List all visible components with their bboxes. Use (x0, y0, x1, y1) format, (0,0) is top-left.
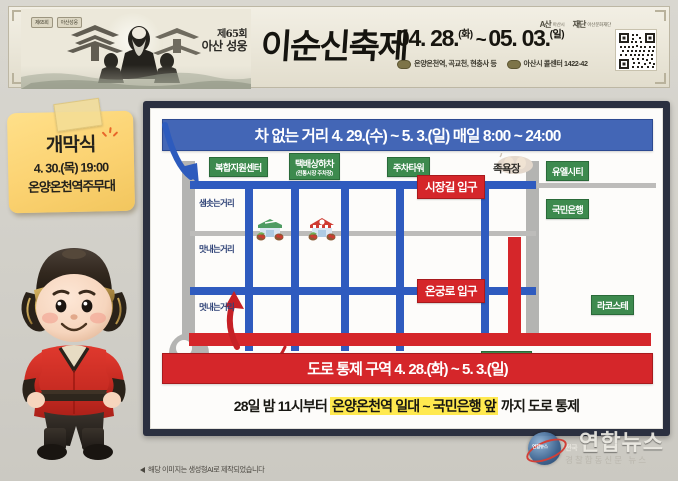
caption-suffix: 까지 도로 통제 (498, 398, 579, 414)
callcenter-item: 아산시 콜센터 1422-42 (507, 59, 588, 69)
watermark-top: 전국 연합뉴스 (565, 432, 664, 454)
end-dow: (일) (550, 29, 564, 40)
map-label-국민은행: 국민은행 (546, 199, 589, 219)
ai-disclaimer: 해당 이미지는 생성형AI로 제작되었습니다 (140, 465, 264, 475)
watermark-sub: 경찰합동신문 뉴스 (565, 456, 664, 465)
yi-sun-sin-mascot (4, 214, 144, 462)
sponsor-name: 아산시 (553, 22, 565, 28)
label-name: 시장길 입구 (425, 179, 477, 195)
caption-prefix: 28일 밤 11시부터 (234, 398, 330, 414)
label-name: 국민은행 (552, 202, 583, 216)
road-control-caption: 28일 밤 11시부터 온양온천역 일대 ~ 국민은행 앞 까지 도로 통제 (162, 392, 651, 420)
sponsor-mark-icon: 재단 (573, 19, 586, 30)
label-name: 택배상하차 (295, 156, 334, 170)
label-name: 맛내는거리 (199, 243, 234, 255)
road-blue-vertical-3 (341, 181, 349, 351)
banner-mini-badges: 제65회 아산성웅 (31, 17, 82, 28)
caption-text: 28일 밤 11시부터 온양온천역 일대 ~ 국민은행 앞 까지 도로 통제 (234, 396, 579, 416)
label-name: 온궁로 입구 (425, 283, 477, 299)
map-label-멋내는거리: 멋내는거리 (199, 301, 234, 313)
opening-ceremony-note: 개막식 4. 30.(목) 19:00 온양온천역주무대 (7, 111, 135, 214)
festival-banner: 제65회 아산성웅 제65회 아산 성웅 이순신축제 04. 28.(화)~05… (8, 6, 670, 88)
festival-info-line: 온양온천역, 곡교천, 현충사 등 아산시 콜센터 1422-42 (397, 59, 622, 69)
festival-main-title: 이순신축제 (259, 19, 409, 68)
venue-text: 온양온천역, 곡교천, 현충사 등 (414, 59, 497, 69)
festival-title-block: 제65회 아산 성웅 이순신축제 (159, 21, 399, 81)
sponsor-logo-foundation: 재단 아산문화재단 (573, 19, 611, 30)
road-grey-stub-right (537, 183, 656, 188)
end-month: 05. (488, 25, 516, 51)
caption-highlight: 온양온천역 일대 ~ 국민은행 앞 (330, 397, 498, 415)
map-label-샘솟는거리: 샘솟는거리 (199, 197, 234, 209)
map-label-시장길입구: 시장길 입구 (417, 175, 485, 199)
festival-subtitle: 아산 성웅 (202, 40, 247, 53)
road-control-banner: 도로 통제 구역 4. 28.(화) ~ 5. 3.(일) (162, 353, 653, 384)
road-control-map-panel: 차 없는 거리 4. 29.(수) ~ 5. 3.(일) 매일 8:00 ~ 2… (143, 101, 670, 436)
venue-item: 온양온천역, 곡교천, 현충사 등 (397, 59, 497, 69)
market-stall-icon (307, 215, 335, 239)
mini-badge: 제65회 (31, 17, 53, 28)
disclaimer-text: 해당 이미지는 생성형AI로 제작되었습니다 (148, 465, 264, 475)
mini-badge: 아산성웅 (57, 17, 82, 28)
callcenter-text: 아산시 콜센터 1422-42 (524, 59, 588, 69)
map-label-온궁로입구: 온궁로 입구 (417, 279, 485, 303)
qr-code-icon[interactable] (615, 29, 657, 71)
start-month: 04. (397, 25, 425, 51)
label-name: 샘솟는거리 (199, 197, 234, 209)
road-blue-vertical-5 (481, 181, 489, 333)
map-label-라코스테: 라코스테 (591, 295, 634, 315)
label-name: 복합지원센터 (215, 160, 262, 174)
sponsor-logo-asan: A산 아산시 (540, 19, 565, 30)
car-free-street-banner: 차 없는 거리 4. 29.(수) ~ 5. 3.(일) 매일 8:00 ~ 2… (162, 119, 653, 151)
sponsor-mark-icon: A산 (540, 19, 551, 30)
globe-icon: 연합뉴스 (528, 432, 561, 465)
map-label-복합지원센터: 복합지원센터 (209, 157, 268, 177)
road-red-horizontal (189, 333, 651, 346)
date-tilde: ~ (473, 30, 489, 51)
banner-corner (655, 10, 666, 21)
news-watermark: 연합뉴스 전국 연합뉴스 경찰합동신문 뉴스 (528, 432, 664, 465)
label-name: 라코스테 (597, 298, 628, 312)
road-blue-vertical-1 (245, 181, 253, 351)
sponsor-name: 아산문화재단 (587, 22, 611, 28)
watermark-prefix: 전국 (565, 446, 577, 455)
map-canvas: 차 없는 거리 4. 29.(수) ~ 5. 3.(일) 매일 8:00 ~ 2… (150, 108, 663, 429)
map-label-족욕장: 족욕장 (493, 161, 520, 176)
left-triangle-icon (140, 467, 145, 473)
label-name: 유엘시티 (552, 164, 583, 178)
label-name: 멋내는거리 (199, 301, 234, 313)
label-sub: (전통시장 주차장) (296, 169, 333, 177)
market-stall-icon (255, 215, 283, 239)
sponsor-logos: A산 아산시 재단 아산문화재단 (540, 19, 611, 30)
location-pill-icon (397, 60, 411, 69)
globe-ring-icon (523, 434, 570, 468)
start-dow: (화) (458, 29, 472, 40)
watermark-text: 전국 연합뉴스 경찰합동신문 뉴스 (565, 432, 664, 465)
label-name: 족욕장 (493, 161, 520, 176)
road-control-text: 도로 통제 구역 4. 28.(화) ~ 5. 3.(일) (307, 358, 508, 379)
festival-date-block: 04. 28.(화)~05. 03.(일) 온양온천역, 곡교천, 현충사 등 … (397, 27, 622, 69)
label-name: 주차타워 (393, 160, 424, 174)
tape-icon (53, 98, 103, 132)
start-day: 28. (430, 25, 458, 51)
map-label-맛내는거리: 맛내는거리 (199, 243, 234, 255)
road-red-vertical (508, 237, 521, 345)
opening-ceremony-heading: 개막식 (7, 129, 134, 159)
map-label-유엘시티: 유엘시티 (546, 161, 589, 181)
map-label-주차타워: 주차타워 (387, 157, 430, 177)
road-blue-vertical-2 (291, 181, 299, 351)
watermark-main: 연합뉴스 (579, 432, 664, 454)
map-label-택배상하차: 택배상하차 (전통시장 주차장) (289, 153, 340, 180)
opening-ceremony-venue: 온양온천역주무대 (8, 175, 134, 197)
car-free-street-text: 차 없는 거리 4. 29.(수) ~ 5. 3.(일) 매일 8:00 ~ 2… (255, 124, 561, 146)
phone-pill-icon (507, 60, 521, 69)
globe-tag: 연합뉴스 (532, 444, 548, 450)
road-blue-vertical-4 (396, 181, 404, 351)
poster-root: 제65회 아산성웅 제65회 아산 성웅 이순신축제 04. 28.(화)~05… (0, 0, 678, 481)
festival-pretitle: 제65회 아산 성웅 (202, 29, 247, 54)
banner-corner (655, 73, 666, 84)
festival-date-range: 04. 28.(화)~05. 03.(일) (397, 27, 622, 50)
